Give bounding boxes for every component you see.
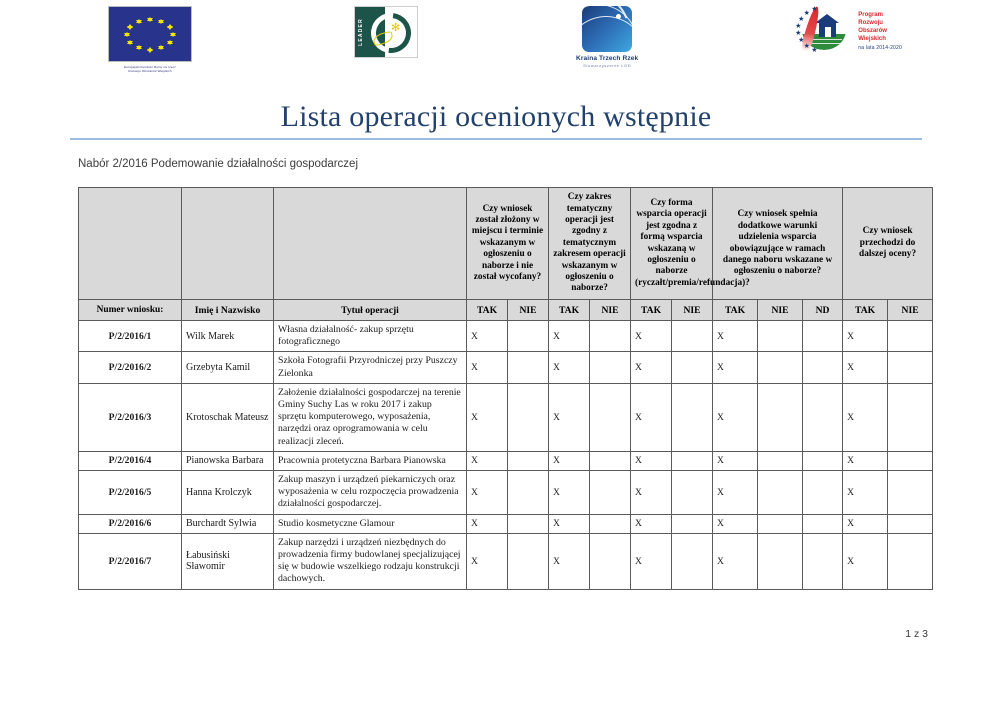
header-criterion-5: Czy wniosek przechodzi do dalszej oceny? [843,188,933,300]
cell-operation-title: Zakup narzędzi i urządzeń niezbędnych do… [274,533,467,589]
cell-c4-tak: X [713,451,758,470]
cell-application-number: P/2/2016/4 [79,451,182,470]
kraina-trzech-rzek-icon [582,6,632,52]
prow-logo-block: ★★★★★★★★ Program Rozwoju Obszarów Wiejsk… [796,6,902,56]
eu-star-icon [158,45,164,49]
cell-c5-nie [888,352,933,383]
cell-c4-nie [758,321,803,352]
eu-star-icon [170,32,176,36]
cell-c3-tak: X [631,352,672,383]
cell-c3-tak: X [631,533,672,589]
criteria-header-row: Czy wniosek został złożony w miejscu i t… [79,188,933,300]
cell-c4-nd [803,471,843,515]
cell-c4-nd [803,383,843,451]
cell-c3-nie [672,514,713,533]
cell-c5-tak: X [843,321,888,352]
subheader-c1-tak: TAK [467,300,508,321]
subheader-c3-nie: NIE [672,300,713,321]
cell-c1-nie [508,352,549,383]
cell-c5-tak: X [843,383,888,451]
cell-c4-tak: X [713,383,758,451]
cell-c5-nie [888,514,933,533]
cell-c5-nie [888,533,933,589]
table-row: P/2/2016/7Łabusiński SławomirZakup narzę… [79,533,933,589]
cell-c1-tak: X [467,352,508,383]
leader-icon: ✻ LEADER [354,6,418,58]
eu-logo-caption: Europejski Fundusz Rolny na rzecz Rozwoj… [104,65,196,74]
prow-line-3: Obszarów [858,27,902,35]
cell-c3-nie [672,321,713,352]
prow-star-icon: ★ [798,37,804,44]
eu-star-icon [136,45,142,49]
cell-c2-nie [590,533,631,589]
subheader-title: Tytuł operacji [274,300,467,321]
cell-applicant-name: Łabusiński Sławomir [182,533,274,589]
cell-c1-tak: X [467,383,508,451]
subheader-row: Numer wniosku: Imię i Nazwisko Tytuł ope… [79,300,933,321]
cell-c4-nie [758,451,803,470]
prow-door [825,27,831,37]
eu-star-icon [136,19,142,23]
cell-c1-nie [508,383,549,451]
cell-c4-nie [758,471,803,515]
document-page: Europejski Fundusz Rolny na rzecz Rozwoj… [0,0,992,702]
eu-logo-block: Europejski Fundusz Rolny na rzecz Rozwoj… [104,6,196,74]
cell-c3-nie [672,533,713,589]
subheader-c1-nie: NIE [508,300,549,321]
cell-c2-nie [590,451,631,470]
cell-c4-nd [803,451,843,470]
cell-c5-tak: X [843,471,888,515]
subheader-c4-nie: NIE [758,300,803,321]
table-head: Czy wniosek został złożony w miejscu i t… [79,188,933,321]
table-row: P/2/2016/4Pianowska BarbaraPracownia pro… [79,451,933,470]
eu-star-icon [167,40,173,44]
table-row: P/2/2016/5Hanna KrolczykZakup maszyn i u… [79,471,933,515]
cell-application-number: P/2/2016/1 [79,321,182,352]
cell-operation-title: Szkoła Fotografii Przyrodniczej przy Pus… [274,352,467,383]
prow-text-block: Program Rozwoju Obszarów Wiejskich na la… [858,11,902,51]
subheader-c4-nd: ND [803,300,843,321]
cell-operation-title: Studio kosmetyczne Glamour [274,514,467,533]
title-divider [70,138,922,140]
subheader-name: Imię i Nazwisko [182,300,274,321]
eu-star-icon [147,47,153,51]
eu-caption-line2: Rozwoju Obszarów Wiejskich [104,69,196,73]
header-blank-name [182,188,274,300]
table-body: P/2/2016/1Wilk MarekWłasna działalność- … [79,321,933,590]
prow-emblem-icon: ★★★★★★★★ [796,6,852,56]
leader-logo-block: ✻ LEADER [354,6,418,58]
operations-table: Czy wniosek został złożony w miejscu i t… [78,187,933,590]
cell-c1-nie [508,514,549,533]
cell-c5-tak: X [843,514,888,533]
cell-applicant-name: Krotoschak Mateusz [182,383,274,451]
cell-c2-nie [590,352,631,383]
cell-c3-nie [672,451,713,470]
cell-c5-nie [888,451,933,470]
cell-c4-nd [803,321,843,352]
table-row: P/2/2016/6Burchardt SylwiaStudio kosmety… [79,514,933,533]
table-row: P/2/2016/3Krotoschak MateuszZałożenie dz… [79,383,933,451]
prow-star-icon: ★ [811,47,817,54]
cell-application-number: P/2/2016/7 [79,533,182,589]
page-subtitle: Nabór 2/2016 Podemowanie działalności go… [78,158,358,170]
cell-c3-nie [672,383,713,451]
cell-c3-tak: X [631,471,672,515]
subheader-c2-tak: TAK [549,300,590,321]
prow-line-2: Rozwoju [858,19,902,27]
subheader-c5-nie: NIE [888,300,933,321]
cell-c3-nie [672,471,713,515]
header-blank-number [79,188,182,300]
cell-c4-nie [758,383,803,451]
cell-c4-tak: X [713,514,758,533]
cell-c2-tak: X [549,533,590,589]
subheader-number: Numer wniosku: [79,300,182,321]
cell-c2-tak: X [549,471,590,515]
cell-c1-nie [508,471,549,515]
cell-c1-nie [508,451,549,470]
cell-c4-nie [758,514,803,533]
cell-operation-title: Pracownia protetyczna Barbara Pianowska [274,451,467,470]
cell-c1-tak: X [467,451,508,470]
cell-applicant-name: Grzebyta Kamil [182,352,274,383]
cell-c2-nie [590,514,631,533]
eu-star-icon [127,40,133,44]
page-number: 1 z 3 [905,628,928,640]
subheader-c5-tak: TAK [843,300,888,321]
cell-c4-tak: X [713,352,758,383]
cell-c3-tak: X [631,514,672,533]
header-criterion-3: Czy forma wsparcia operacji jest zgodna … [631,188,713,300]
cell-c3-tak: X [631,383,672,451]
cell-c1-nie [508,533,549,589]
cell-c1-tak: X [467,471,508,515]
cell-c5-nie [888,321,933,352]
cell-operation-title: Zakup maszyn i urządzeń piekarniczych or… [274,471,467,515]
prow-star-icon: ★ [804,10,810,17]
cell-c1-tak: X [467,321,508,352]
cell-c5-tak: X [843,533,888,589]
cell-application-number: P/2/2016/3 [79,383,182,451]
cell-c4-tak: X [713,321,758,352]
cell-c3-tak: X [631,321,672,352]
logo-bar: Europejski Fundusz Rolny na rzecz Rozwoj… [78,6,928,84]
header-criterion-1: Czy wniosek został złożony w miejscu i t… [467,188,549,300]
cell-c2-tak: X [549,383,590,451]
cell-c2-tak: X [549,321,590,352]
prow-star-icon: ★ [804,43,810,50]
subheader-c2-nie: NIE [590,300,631,321]
cell-c1-nie [508,321,549,352]
cell-c4-tak: X [713,471,758,515]
subheader-c4-tak: TAK [713,300,758,321]
prow-lockup: ★★★★★★★★ Program Rozwoju Obszarów Wiejsk… [796,6,902,56]
cell-c2-tak: X [549,451,590,470]
leader-sparkle-icon: ✻ [391,21,405,35]
cell-c2-tak: X [549,352,590,383]
cell-c4-nie [758,352,803,383]
prow-house [819,22,836,37]
prow-star-icon: ★ [811,6,817,13]
cell-c4-tak: X [713,533,758,589]
prow-years: na lata 2014-2020 [858,45,902,51]
prow-line-4: Wiejskich [858,35,902,43]
cell-c2-nie [590,321,631,352]
cell-c4-nd [803,533,843,589]
cell-c2-nie [590,383,631,451]
eu-star-icon [167,24,173,28]
lgd-logo-block: Kraina Trzech Rzek Stowarzyszenie LGD [576,6,638,68]
cell-application-number: P/2/2016/2 [79,352,182,383]
prow-star-icon: ★ [795,30,801,37]
lgd-subtitle: Stowarzyszenie LGD [583,63,631,68]
cell-c2-tak: X [549,514,590,533]
cell-operation-title: Własna działalność- zakup sprzętu fotogr… [274,321,467,352]
cell-applicant-name: Wilk Marek [182,321,274,352]
cell-c5-tak: X [843,451,888,470]
cell-c4-nd [803,352,843,383]
cell-c1-tak: X [467,533,508,589]
cell-application-number: P/2/2016/5 [79,471,182,515]
table-row: P/2/2016/2Grzebyta KamilSzkoła Fotografi… [79,352,933,383]
subheader-c3-tak: TAK [631,300,672,321]
prow-star-icon: ★ [795,23,801,30]
cell-c5-nie [888,471,933,515]
eu-star-icon [124,32,130,36]
table-row: P/2/2016/1Wilk MarekWłasna działalność- … [79,321,933,352]
cell-c5-tak: X [843,352,888,383]
cell-c2-nie [590,471,631,515]
cell-c5-nie [888,383,933,451]
lgd-title: Kraina Trzech Rzek [576,55,638,62]
cell-operation-title: Założenie działalności gospodarczej na t… [274,383,467,451]
cell-c3-nie [672,352,713,383]
header-criterion-2: Czy zakres tematyczny operacji jest zgod… [549,188,631,300]
eu-star-icon [158,19,164,23]
operations-table-wrapper: Czy wniosek został złożony w miejscu i t… [78,187,928,590]
cell-c3-tak: X [631,451,672,470]
cell-application-number: P/2/2016/6 [79,514,182,533]
eu-star-icon [127,24,133,28]
eu-flag-icon [108,6,192,62]
cell-c4-nd [803,514,843,533]
eu-star-icon [147,17,153,21]
cell-applicant-name: Burchardt Sylwia [182,514,274,533]
cell-c4-nie [758,533,803,589]
header-blank-title [274,188,467,300]
cell-c1-tak: X [467,514,508,533]
page-title: Lista operacji ocenionych wstępnie [0,100,992,134]
prow-line-1: Program [858,11,902,19]
cell-applicant-name: Pianowska Barbara [182,451,274,470]
leader-wordmark: LEADER [358,12,364,52]
cell-applicant-name: Hanna Krolczyk [182,471,274,515]
